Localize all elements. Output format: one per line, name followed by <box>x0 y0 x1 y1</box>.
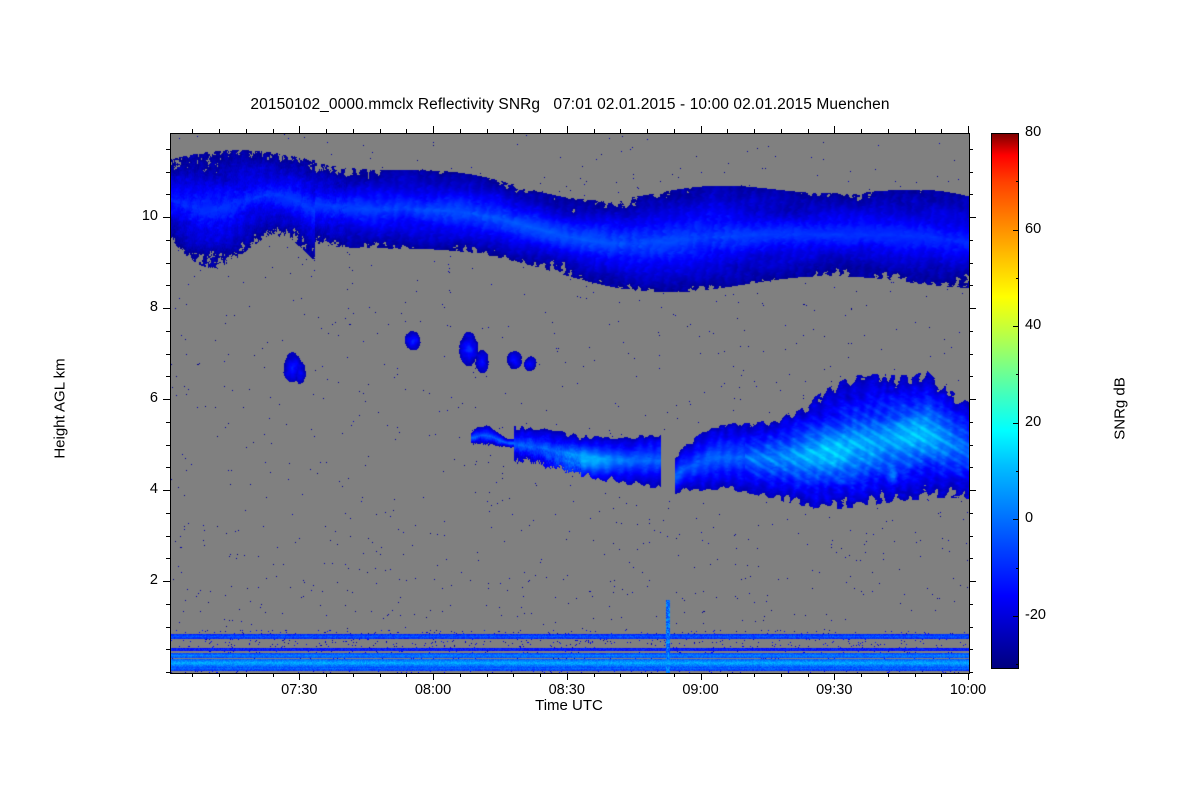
colorbar-tick-major <box>1013 519 1019 520</box>
radar-reflectivity-figure: 20150102_0000.mmclx Reflectivity SNRg 07… <box>0 0 1200 800</box>
x-tick-major <box>299 126 300 133</box>
x-tick-major <box>968 673 969 680</box>
x-tick-minor <box>888 129 889 133</box>
colorbar-tick-minor <box>1016 374 1019 375</box>
y-tick-minor <box>969 604 973 605</box>
x-tick-minor <box>192 129 193 133</box>
colorbar-tick-major <box>1013 133 1019 134</box>
colorbar-tick-label: 0 <box>1025 510 1033 526</box>
x-tick-minor <box>273 673 274 677</box>
colorbar-tick-label: 60 <box>1025 221 1041 237</box>
x-tick-minor <box>727 673 728 677</box>
y-tick-minor <box>166 467 170 468</box>
x-tick-major <box>968 126 969 133</box>
x-tick-label: 10:00 <box>928 682 1008 698</box>
y-tick-minor <box>969 331 973 332</box>
colorbar-tick-major <box>1013 616 1019 617</box>
y-tick-minor <box>166 604 170 605</box>
x-tick-minor <box>246 673 247 677</box>
y-tick-minor <box>166 263 170 264</box>
x-tick-minor <box>353 129 354 133</box>
y-axis-title: Height AGL km <box>52 289 69 529</box>
x-tick-minor <box>513 673 514 677</box>
colorbar-tick-label: -20 <box>1025 607 1046 623</box>
colorbar-tick-minor <box>1016 664 1019 665</box>
colorbar-tick-major <box>1013 230 1019 231</box>
x-tick-label: 08:30 <box>527 682 607 698</box>
x-tick-minor <box>861 129 862 133</box>
y-tick-minor <box>166 445 170 446</box>
y-tick-minor <box>166 672 170 673</box>
x-tick-minor <box>487 129 488 133</box>
y-tick-major <box>163 308 170 309</box>
x-tick-minor <box>941 673 942 677</box>
colorbar <box>991 133 1019 669</box>
x-tick-major <box>299 673 300 680</box>
x-tick-major <box>567 673 568 680</box>
y-tick-minor <box>166 536 170 537</box>
y-tick-minor <box>969 627 973 628</box>
y-tick-minor <box>969 649 973 650</box>
x-tick-minor <box>674 673 675 677</box>
x-tick-label: 07:30 <box>259 682 339 698</box>
x-tick-minor <box>620 673 621 677</box>
x-tick-minor <box>246 129 247 133</box>
x-tick-major <box>834 673 835 680</box>
colorbar-gradient <box>991 133 1019 669</box>
x-tick-minor <box>513 129 514 133</box>
x-tick-minor <box>594 673 595 677</box>
y-tick-major <box>969 308 976 309</box>
x-tick-major <box>433 126 434 133</box>
page-title: 20150102_0000.mmclx Reflectivity SNRg 07… <box>0 96 1140 114</box>
y-tick-major <box>163 490 170 491</box>
x-tick-major <box>834 126 835 133</box>
y-tick-minor <box>969 172 973 173</box>
y-tick-major <box>969 490 976 491</box>
y-tick-minor <box>969 285 973 286</box>
x-tick-minor <box>192 673 193 677</box>
y-tick-label: 8 <box>118 299 158 315</box>
y-tick-minor <box>166 354 170 355</box>
colorbar-title: SNRg dB <box>1112 289 1129 529</box>
plot-area <box>170 133 970 674</box>
x-tick-minor <box>460 129 461 133</box>
x-tick-label: 09:30 <box>794 682 874 698</box>
colorbar-tick-major <box>1013 423 1019 424</box>
y-tick-minor <box>166 172 170 173</box>
y-tick-minor <box>969 558 973 559</box>
y-tick-label: 10 <box>118 208 158 224</box>
x-tick-minor <box>540 673 541 677</box>
x-axis-title: Time UTC <box>170 697 968 714</box>
y-tick-label: 2 <box>118 572 158 588</box>
y-tick-minor <box>969 376 973 377</box>
heatmap-canvas <box>171 134 969 673</box>
x-tick-minor <box>915 673 916 677</box>
y-tick-minor <box>969 240 973 241</box>
y-tick-major <box>163 581 170 582</box>
x-tick-minor <box>219 673 220 677</box>
y-tick-major <box>969 581 976 582</box>
y-tick-minor <box>969 149 973 150</box>
x-tick-minor <box>540 129 541 133</box>
y-tick-minor <box>166 331 170 332</box>
y-tick-minor <box>166 149 170 150</box>
x-tick-minor <box>406 129 407 133</box>
y-tick-minor <box>969 422 973 423</box>
x-tick-minor <box>808 129 809 133</box>
x-tick-major <box>567 126 568 133</box>
y-tick-minor <box>969 536 973 537</box>
x-tick-major <box>701 673 702 680</box>
x-tick-minor <box>781 673 782 677</box>
colorbar-tick-label: 20 <box>1025 414 1041 430</box>
x-tick-minor <box>326 129 327 133</box>
y-tick-minor <box>166 194 170 195</box>
x-tick-minor <box>219 129 220 133</box>
colorbar-tick-minor <box>1016 278 1019 279</box>
y-tick-minor <box>969 354 973 355</box>
y-tick-major <box>163 217 170 218</box>
colorbar-tick-minor <box>1016 471 1019 472</box>
x-tick-minor <box>754 673 755 677</box>
x-tick-minor <box>888 673 889 677</box>
y-tick-minor <box>969 194 973 195</box>
x-tick-major <box>433 673 434 680</box>
y-tick-minor <box>969 263 973 264</box>
x-tick-minor <box>647 673 648 677</box>
x-tick-minor <box>674 129 675 133</box>
x-tick-label: 09:00 <box>661 682 741 698</box>
x-tick-minor <box>941 129 942 133</box>
x-tick-minor <box>620 129 621 133</box>
colorbar-tick-minor <box>1016 568 1019 569</box>
x-tick-minor <box>406 673 407 677</box>
y-tick-minor <box>166 376 170 377</box>
x-tick-minor <box>808 673 809 677</box>
x-tick-minor <box>754 129 755 133</box>
y-tick-minor <box>166 285 170 286</box>
x-tick-minor <box>915 129 916 133</box>
y-tick-label: 4 <box>118 481 158 497</box>
y-tick-label: 6 <box>118 390 158 406</box>
y-tick-major <box>969 217 976 218</box>
colorbar-tick-label: 80 <box>1025 124 1041 140</box>
x-tick-minor <box>727 129 728 133</box>
y-tick-major <box>969 399 976 400</box>
x-tick-minor <box>647 129 648 133</box>
y-tick-minor <box>166 240 170 241</box>
y-tick-minor <box>166 649 170 650</box>
y-tick-major <box>163 399 170 400</box>
x-tick-minor <box>380 673 381 677</box>
y-tick-minor <box>969 445 973 446</box>
x-tick-major <box>701 126 702 133</box>
y-tick-minor <box>969 513 973 514</box>
colorbar-tick-minor <box>1016 181 1019 182</box>
x-tick-minor <box>781 129 782 133</box>
y-tick-minor <box>166 558 170 559</box>
colorbar-tick-major <box>1013 326 1019 327</box>
x-tick-minor <box>326 673 327 677</box>
x-tick-minor <box>353 673 354 677</box>
x-tick-minor <box>594 129 595 133</box>
x-tick-minor <box>380 129 381 133</box>
y-tick-minor <box>166 627 170 628</box>
x-tick-minor <box>861 673 862 677</box>
y-tick-minor <box>166 513 170 514</box>
y-tick-minor <box>166 422 170 423</box>
x-tick-minor <box>273 129 274 133</box>
x-tick-label: 08:00 <box>393 682 473 698</box>
x-tick-minor <box>460 673 461 677</box>
x-tick-minor <box>487 673 488 677</box>
y-tick-minor <box>969 467 973 468</box>
y-tick-minor <box>969 672 973 673</box>
colorbar-tick-label: 40 <box>1025 317 1041 333</box>
